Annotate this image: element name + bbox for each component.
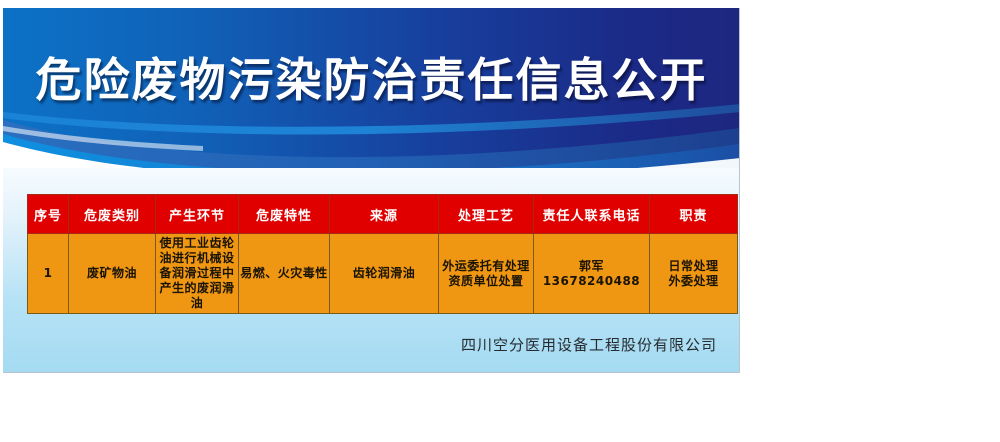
- duty-line-2: 外委处理: [651, 274, 736, 289]
- column-header-source: 来源: [330, 195, 439, 234]
- table-header-row: 序号 危废类别 产生环节 危废特性 来源 处理工艺 责任人联系电话 职责: [28, 195, 738, 234]
- column-header-characteristic: 危废特性: [239, 195, 330, 234]
- cell-characteristic: 易燃、火灾毒性: [239, 234, 330, 314]
- contact-person-phone: 13678240488: [535, 274, 648, 289]
- column-header-duty: 职责: [650, 195, 738, 234]
- cell-stage: 使用工业齿轮油进行机械设备润滑过程中产生的废润滑油: [156, 234, 239, 314]
- hazardous-waste-table: 序号 危废类别 产生环节 危废特性 来源 处理工艺 责任人联系电话 职责 1 废…: [27, 194, 738, 314]
- cell-process: 外运委托有处理资质单位处置: [439, 234, 534, 314]
- column-header-index: 序号: [28, 195, 69, 234]
- cell-contact: 郭军 13678240488: [534, 234, 650, 314]
- duty-line-1: 日常处理: [651, 259, 736, 274]
- cell-category: 废矿物油: [69, 234, 156, 314]
- table-row: 1 废矿物油 使用工业齿轮油进行机械设备润滑过程中产生的废润滑油 易燃、火灾毒性…: [28, 234, 738, 314]
- cell-duty: 日常处理 外委处理: [650, 234, 738, 314]
- column-header-process: 处理工艺: [439, 195, 534, 234]
- column-header-category: 危废类别: [69, 195, 156, 234]
- column-header-contact: 责任人联系电话: [534, 195, 650, 234]
- cell-source: 齿轮润滑油: [330, 234, 439, 314]
- contact-person-name: 郭军: [535, 259, 648, 274]
- poster-container: 危险废物污染防治责任信息公开 序号 危废类别 产生环节 危废特性 来源 处理工艺…: [3, 8, 740, 373]
- cell-index: 1: [28, 234, 69, 314]
- company-name: 四川空分医用设备工程股份有限公司: [3, 334, 717, 355]
- page-title: 危险废物污染防治责任信息公开: [3, 56, 740, 104]
- column-header-stage: 产生环节: [156, 195, 239, 234]
